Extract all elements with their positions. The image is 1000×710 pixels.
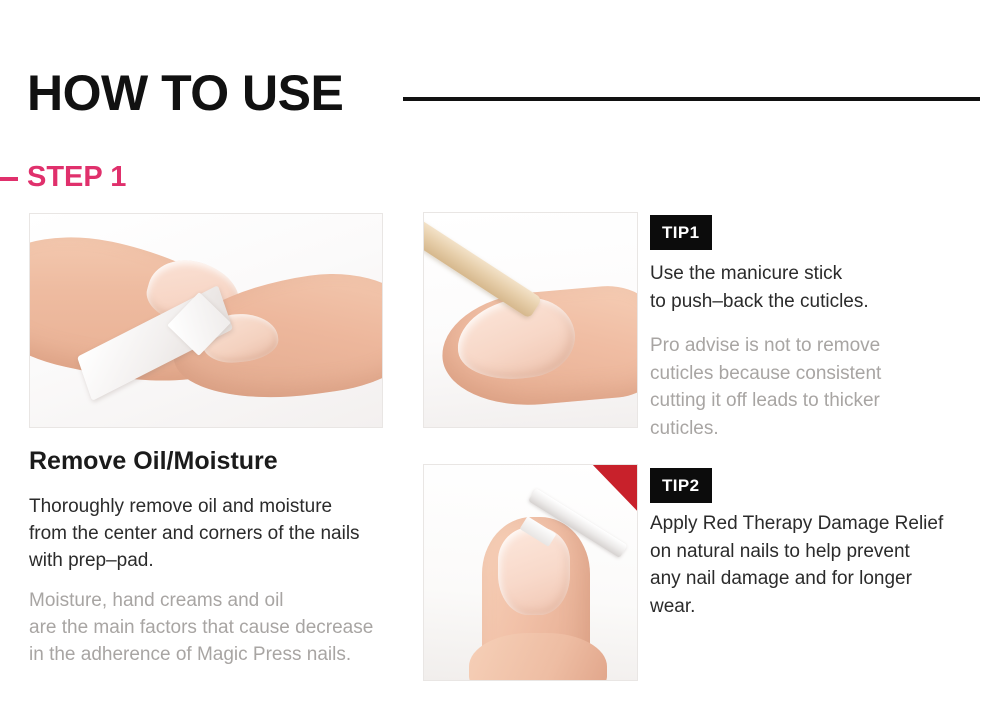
subtext-line: Moisture, hand creams and oil (29, 588, 429, 615)
tip2-body-line: Apply Red Therapy Damage Relief (650, 510, 990, 538)
manicure-stick-photo (423, 212, 638, 428)
page-title: HOW TO USE (27, 68, 343, 118)
step-dash-icon (0, 177, 18, 181)
tip1-subtext: Pro advise is not to remove cuticles bec… (650, 332, 980, 442)
left-column-subtext: Moisture, hand creams and oil are the ma… (29, 588, 429, 669)
tip1-subtext-line: Pro advise is not to remove (650, 332, 980, 360)
tip2-body: Apply Red Therapy Damage Relief on natur… (650, 510, 990, 620)
left-column-body: Thoroughly remove oil and moisture from … (29, 494, 429, 575)
subtext-line: in the adherence of Magic Press nails. (29, 642, 429, 669)
subtext-line: are the main factors that cause decrease (29, 615, 429, 642)
prep-pad-on-nail-photo (29, 213, 383, 428)
tip2-badge: TIP2 (650, 468, 712, 503)
tip2-body-line: wear. (650, 593, 990, 621)
left-column-heading: Remove Oil/Moisture (29, 448, 278, 476)
how-to-use-page: HOW TO USE STEP 1 Remove Oil/Moisture Th… (0, 0, 1000, 710)
tip2-body-line: any nail damage and for longer (650, 565, 990, 593)
tip1-subtext-line: cuticles because consistent (650, 360, 980, 388)
red-therapy-brush-photo (423, 464, 638, 681)
tip1-subtext-line: cuticles. (650, 415, 980, 443)
header-divider-line (403, 97, 980, 101)
red-bottle-cap-shape (589, 464, 638, 523)
tip1-body: Use the manicure stick to push–back the … (650, 260, 980, 315)
tip2-body-line: on natural nails to help prevent (650, 538, 990, 566)
body-line: with prep–pad. (29, 548, 429, 575)
tip1-body-line: Use the manicure stick (650, 260, 980, 288)
step-label: STEP 1 (27, 163, 126, 192)
tip1-body-line: to push–back the cuticles. (650, 288, 980, 316)
nail-shape (498, 527, 570, 615)
body-line: Thoroughly remove oil and moisture (29, 494, 429, 521)
tip1-subtext-line: cutting it off leads to thicker (650, 387, 980, 415)
body-line: from the center and corners of the nails (29, 521, 429, 548)
tip1-badge: TIP1 (650, 215, 712, 250)
